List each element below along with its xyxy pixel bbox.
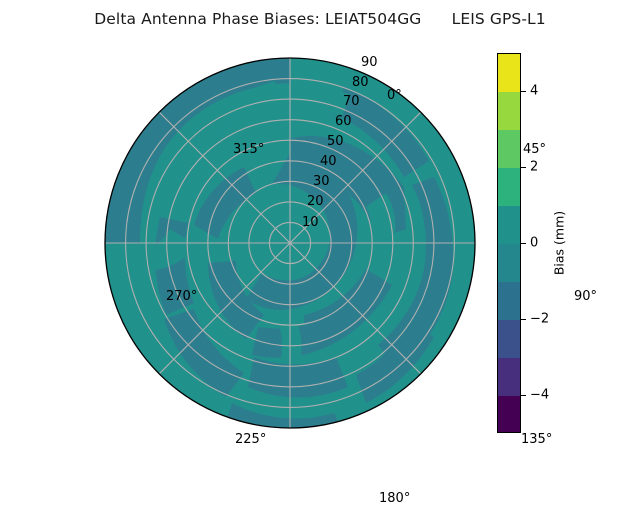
cbar-tick-n4 <box>521 395 526 396</box>
colorbar-gradient <box>497 53 521 433</box>
angular-gridlines <box>105 58 475 428</box>
cbar-ticklabel-n4: −4 <box>530 388 549 403</box>
colorbar[interactable]: 4 2 0 −2 −4 Bias (mm) <box>497 53 617 433</box>
radial-tick-80: 80 <box>352 75 369 90</box>
figure-canvas: Delta Antenna Phase Biases: LEIAT504GG L… <box>0 0 640 480</box>
angular-tick-225: 225° <box>235 432 266 447</box>
radial-tick-30: 30 <box>313 174 330 189</box>
cbar-ticklabel-2: 2 <box>530 160 538 175</box>
radial-tick-40: 40 <box>320 154 337 169</box>
cbar-ticklabel-0: 0 <box>530 236 538 251</box>
angular-tick-180: 180° <box>379 491 410 506</box>
polar-axes[interactable]: 0° 45° 90° 135° 180° 225° 270° 315° 10 2… <box>104 57 476 429</box>
cbar-band-9 <box>498 54 520 92</box>
radial-tick-60: 60 <box>335 114 352 129</box>
angular-tick-135: 135° <box>521 432 552 447</box>
cbar-tick-0 <box>521 243 526 244</box>
cbar-tick-n2 <box>521 319 526 320</box>
cbar-band-0 <box>498 396 520 433</box>
cbar-band-5 <box>498 206 520 244</box>
cbar-band-7 <box>498 130 520 168</box>
radial-tick-70: 70 <box>343 94 360 109</box>
cbar-tick-4 <box>521 91 526 92</box>
polar-plot-svg <box>104 57 476 429</box>
cbar-band-4 <box>498 244 520 282</box>
cbar-band-8 <box>498 92 520 130</box>
radial-tick-20: 20 <box>307 194 324 209</box>
cbar-band-3 <box>498 282 520 320</box>
cbar-band-1 <box>498 358 520 396</box>
angular-tick-270: 270° <box>166 289 197 304</box>
cbar-band-2 <box>498 320 520 358</box>
cbar-tick-2 <box>521 167 526 168</box>
radial-tick-10: 10 <box>302 215 319 230</box>
colorbar-label: Bias (mm) <box>552 211 567 275</box>
cbar-band-6 <box>498 168 520 206</box>
cbar-ticklabel-n2: −2 <box>530 312 549 327</box>
radial-tick-90: 90 <box>361 55 378 70</box>
cbar-ticklabel-4: 4 <box>530 84 538 99</box>
angular-tick-0: 0° <box>387 88 402 103</box>
angular-tick-315: 315° <box>233 142 264 157</box>
radial-tick-50: 50 <box>327 134 344 149</box>
chart-title: Delta Antenna Phase Biases: LEIAT504GG L… <box>0 10 640 28</box>
